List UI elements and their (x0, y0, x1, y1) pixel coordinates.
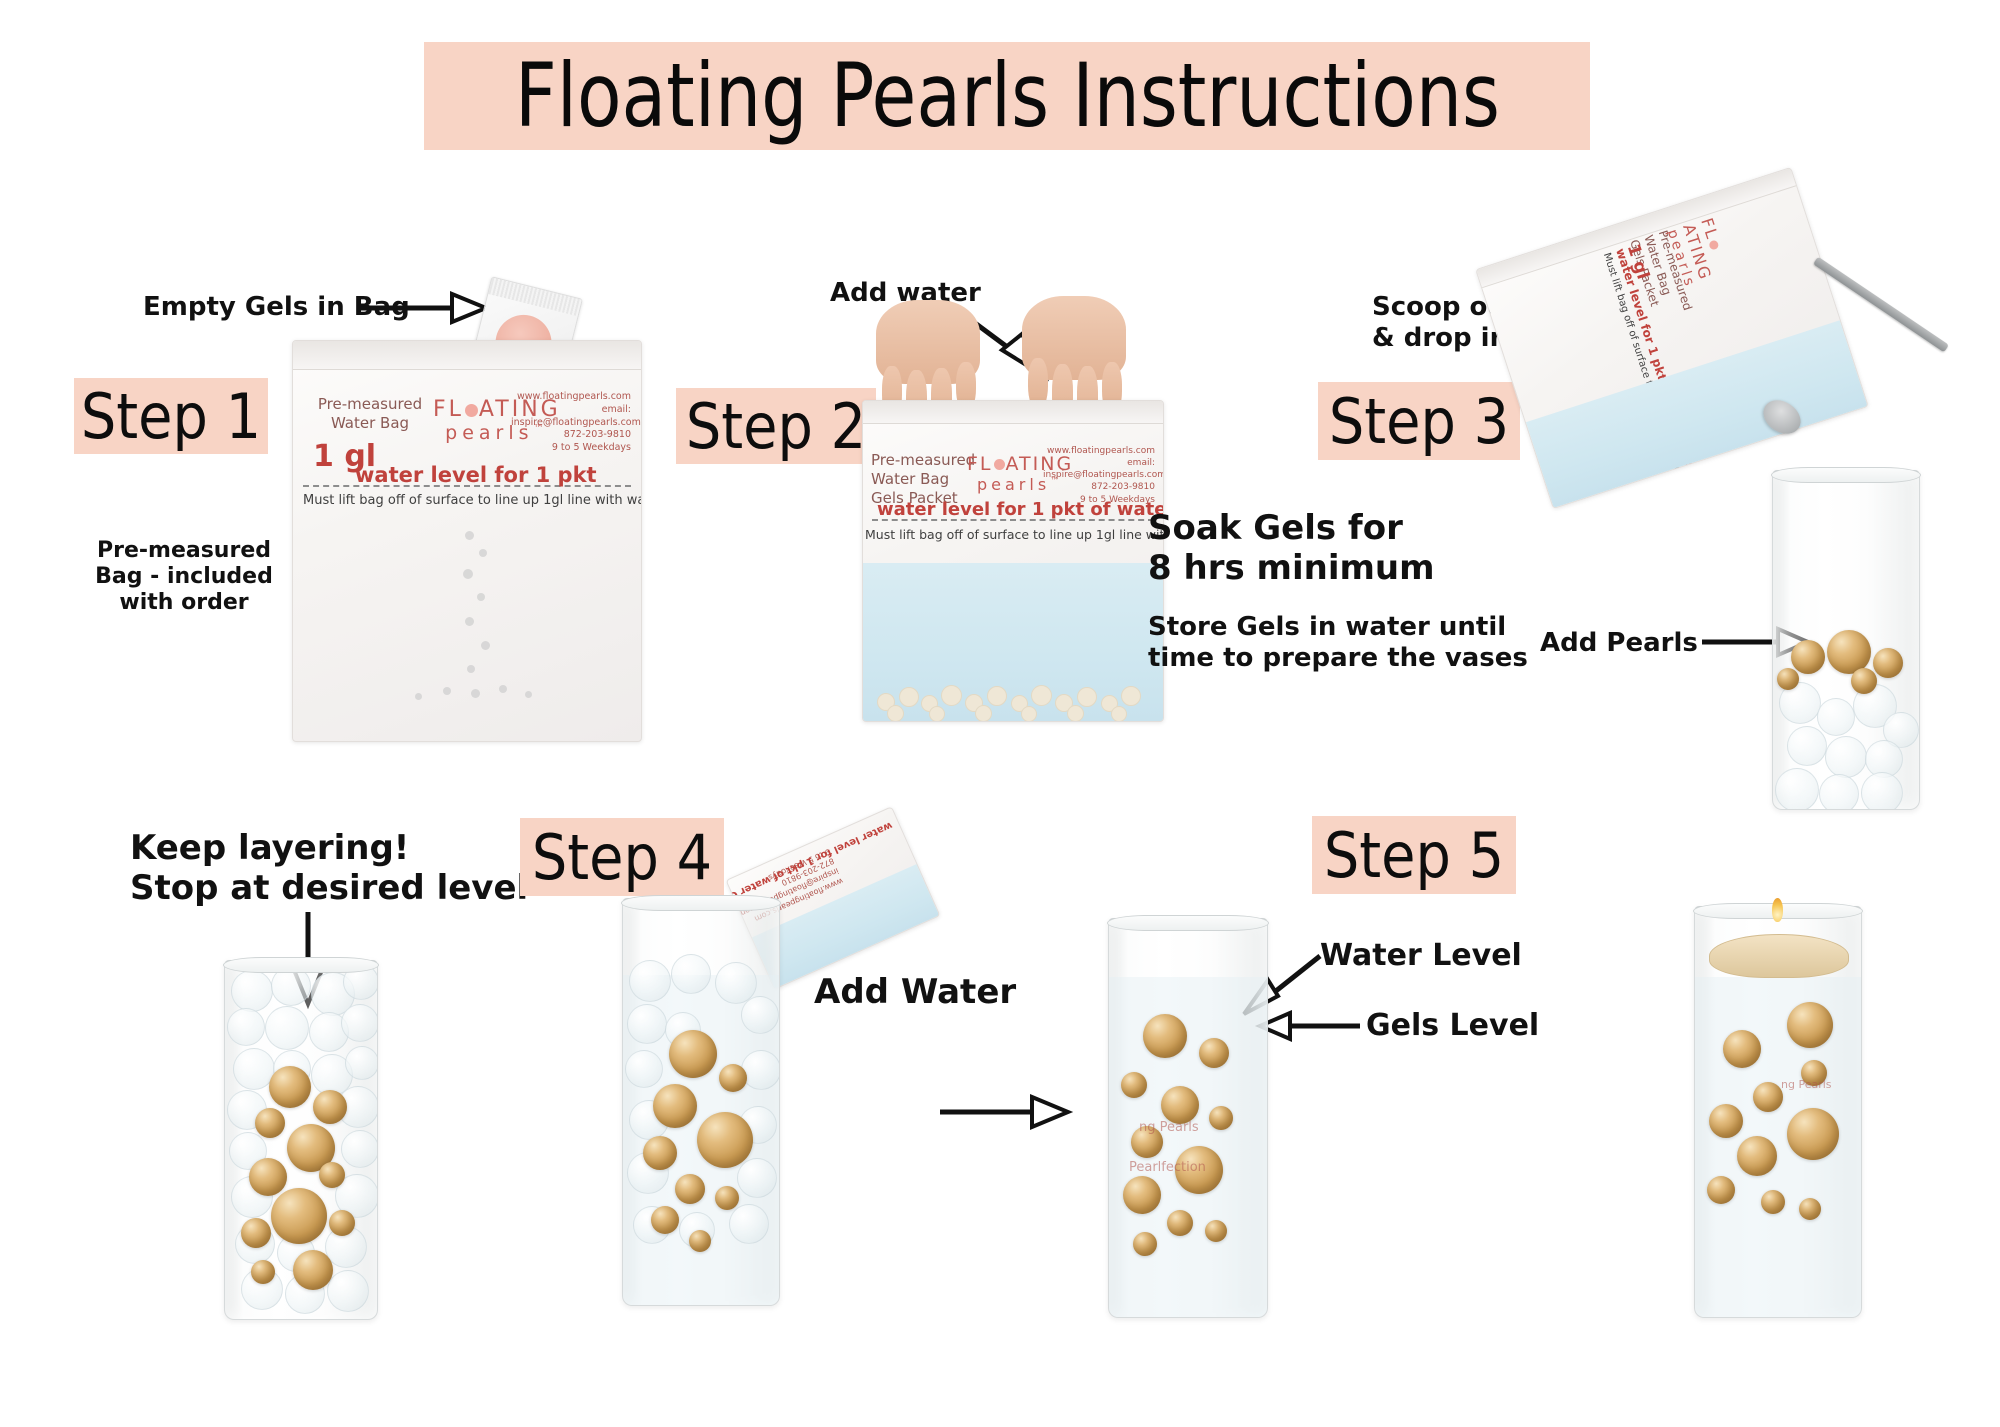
step-label-2: Step 2 (686, 390, 866, 463)
page-title-band: Floating Pearls Instructions (424, 42, 1590, 150)
page-title: Floating Pearls Instructions (514, 52, 1499, 140)
bag-contact-block: www.floatingpearls.com email: inspire@fl… (511, 391, 631, 455)
bag-water-level-text: water level for 1 pkt (355, 463, 597, 487)
annotation-water-level: Water Level (1320, 938, 1522, 973)
water-bag-step3: Pre-measured Water Bag Gels Packet 1 gl … (1475, 167, 1869, 509)
water-bag-step1: Pre-measured Water Bag 1 gl FLATING pear… (292, 340, 642, 742)
step-chip-3: Step 3 (1318, 382, 1520, 460)
vase-rim (1107, 915, 1269, 931)
annotation-keep-layering: Keep layering! Stop at desired level (130, 828, 528, 908)
arrow-left-icon (1258, 1010, 1360, 1042)
bag-print-dot (465, 617, 474, 626)
bag-print-dot (481, 641, 490, 650)
vase-body (224, 960, 378, 1320)
annotation-premeasured-bag: Pre-measured Bag - included with order (94, 538, 274, 616)
vase-water (1695, 977, 1861, 1317)
bag-print-dot (479, 549, 487, 557)
bag-must-lift-text: Must lift bag off of surface to line up … (865, 527, 1164, 542)
instruction-poster: Floating Pearls Instructions Empty Gels … (0, 0, 2000, 1427)
vase-final-with-candle: ng Pearls (1694, 906, 1862, 1318)
brand-dot-icon (994, 459, 1005, 470)
step-label-1: Step 1 (81, 380, 261, 453)
bag-seal (863, 401, 1163, 424)
vase-rim (621, 895, 781, 911)
step-chip-5: Step 5 (1312, 816, 1516, 894)
vase-body: ng Pearls (1694, 906, 1862, 1318)
bag-print-dot (443, 687, 451, 695)
bag-gel-cluster (863, 661, 1163, 721)
packet-seal (488, 277, 581, 316)
vase-body (1772, 470, 1920, 810)
bag-print-dot (467, 665, 475, 673)
bag-must-lift-text: Must lift bag off of surface to line up … (303, 493, 642, 508)
bag-seal (293, 341, 641, 370)
bag-print-dot (471, 689, 480, 698)
step-chip-1: Step 1 (74, 378, 268, 454)
bag-print-dot (465, 531, 474, 540)
vase-step4 (622, 898, 780, 1306)
vase-body: ng Pearls Pearlfection (1108, 918, 1268, 1318)
bag-contact-block: www.floatingpearls.com email: inspire@fl… (1043, 445, 1155, 506)
bag-print-dot (525, 691, 532, 698)
bag-print-dot (463, 569, 473, 579)
brand-dot-icon (465, 404, 478, 417)
vase-body (622, 898, 780, 1306)
vase-rim (223, 957, 379, 973)
step-label-4: Step 4 (532, 821, 712, 894)
floating-candle (1709, 934, 1849, 978)
arrow-right-icon (940, 1092, 1072, 1132)
step-label-3: Step 3 (1329, 385, 1509, 458)
annotation-add-pearls: Add Pearls (1540, 628, 1698, 659)
vase-layering (224, 960, 378, 1320)
vase-rim (1771, 467, 1921, 483)
step-chip-2: Step 2 (676, 388, 876, 464)
bag-print-dot (415, 693, 422, 700)
annotation-add-water-step4: Add Water (814, 972, 1016, 1012)
step-chip-4: Step 4 (520, 818, 724, 896)
bag-premeasured-label: Pre-measured Water Bag (315, 395, 425, 433)
step-label-5: Step 5 (1324, 819, 1504, 892)
bag-water-level-text: water level for 1 pkt of water Gels (877, 499, 1164, 520)
vase-step5: ng Pearls Pearlfection (1108, 918, 1268, 1318)
bag-print-dot (477, 593, 485, 601)
annotation-soak-heading: Soak Gels for 8 hrs minimum (1148, 508, 1435, 588)
vase-step3 (1772, 470, 1920, 810)
brand-dot-icon (1708, 239, 1719, 250)
annotation-soak-body: Store Gels in water until time to prepar… (1148, 612, 1528, 673)
annotation-gels-level: Gels Level (1366, 1008, 1539, 1043)
arrow-right-icon (360, 290, 490, 326)
flame-icon (1772, 898, 1783, 922)
water-bag-step2: Pre-measured Water Bag Gels Packet FLATI… (862, 400, 1164, 722)
bag-print-dot (499, 685, 507, 693)
